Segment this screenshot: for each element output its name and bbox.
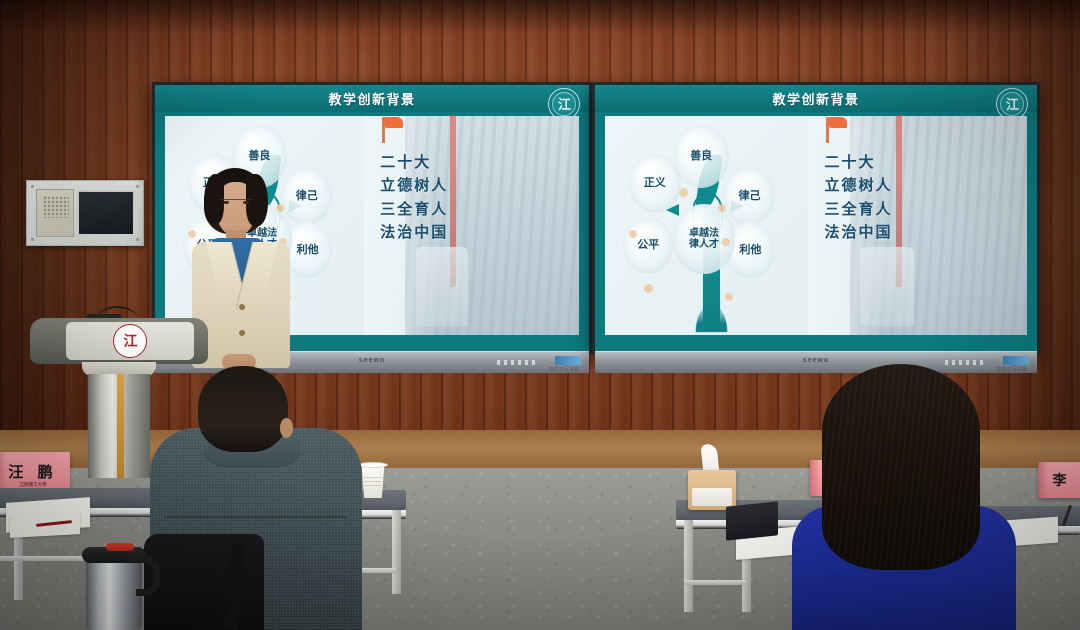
tree-node-top: 善良 [673, 125, 729, 188]
nameplate-text: 汪 鹏 [8, 461, 57, 482]
slide-text-line: 二十大 [824, 151, 892, 174]
logo-mark: 江 [124, 331, 137, 351]
right-interactive-panel[interactable]: 教学创新背景 江 善良 正义 律己 公平 利他 [592, 82, 1040, 354]
slide-text-line: 法治中国 [380, 221, 448, 244]
panel-screw-icon [136, 185, 139, 188]
talent-tree-diagram: 善良 正义 律己 公平 利他 卓越法 律人才 [618, 120, 804, 330]
decor-dot [644, 284, 653, 293]
coat-seam [164, 516, 348, 518]
decor-dot [722, 238, 730, 246]
lectern-column [88, 374, 150, 478]
tree-center-line-1: 卓越法 [689, 228, 719, 239]
decor-dot [725, 293, 733, 301]
slide-title-bar: 教学创新背景 [155, 85, 589, 112]
slide-text-block: 二十大 立德树人 三全育人 法治中国 [380, 151, 448, 244]
thermos-flask [86, 556, 142, 630]
slide-text-line: 法治中国 [824, 221, 892, 244]
panel-screw-icon [31, 238, 34, 241]
decor-dot [679, 188, 688, 197]
jacket-button [239, 304, 245, 310]
attendee-hair [822, 364, 980, 570]
attendee-right [792, 364, 1024, 630]
desk-leg [392, 510, 401, 594]
tree-node-upper-right: 律己 [723, 167, 775, 226]
panel-bezel-label: 智能交互平板 [549, 366, 579, 373]
slide-title: 教学创新背景 [772, 89, 859, 108]
decor-dot [629, 230, 637, 238]
panel-badge-icon [555, 356, 581, 365]
slide-text-line: 三全育人 [380, 198, 448, 221]
glasses-icon [219, 199, 253, 207]
flag-icon [826, 117, 829, 143]
speaker-grille-icon [36, 189, 74, 237]
attendee-left [150, 366, 374, 630]
classroom-scene: 教学创新背景 江 善良 正义 律己 公平 利他 [0, 0, 1080, 630]
tablet-device[interactable] [726, 501, 778, 540]
slide-text-line: 二十大 [380, 151, 448, 174]
tissue-box [688, 470, 736, 510]
attendee-head [198, 366, 288, 452]
tree-node-upper-left: 正义 [629, 154, 681, 213]
tissue-box-face [692, 488, 732, 506]
flag-icon [382, 117, 385, 143]
slide-text-line: 立德树人 [824, 174, 892, 197]
panel-brand-label: seewo [803, 357, 829, 364]
slide-body: 善良 正义 律己 公平 利他 卓越法 律人才 [605, 116, 1027, 335]
slide-title-bar: 教学创新背景 [595, 85, 1037, 112]
wall-control-panel[interactable] [26, 180, 144, 246]
lectern-front-panel: 江 [66, 322, 194, 360]
panel-screw-icon [31, 185, 34, 188]
control-panel-display[interactable] [77, 190, 135, 236]
panel-brand-label: seewo [359, 357, 385, 364]
slide-text-line: 立德树人 [380, 174, 448, 197]
slide-title: 教学创新背景 [328, 89, 415, 108]
slide-text-block: 二十大 立德树人 三全育人 法治中国 [824, 151, 892, 244]
desk-leg [684, 520, 693, 612]
panel-screw-icon [136, 238, 139, 241]
decor-dot [718, 204, 726, 212]
jacket-button [239, 330, 245, 336]
slide-right: 教学创新背景 江 善良 正义 律己 公平 利他 [595, 85, 1037, 351]
panel-buttons[interactable] [497, 360, 535, 365]
attendee-ear [280, 418, 293, 438]
slide-text-line: 三全育人 [824, 198, 892, 221]
thermos-pour-button[interactable] [106, 543, 134, 551]
university-logo-icon: 江 [113, 324, 147, 358]
tree-center-line-2: 律人才 [689, 239, 719, 250]
tree-node-lower-left: 公平 [623, 217, 673, 274]
nameplate-text: 李 [1053, 470, 1070, 490]
desk-rail [684, 580, 746, 585]
nameplate-1: 汪 鹏 江西理工大学 [0, 452, 70, 490]
nameplate-4: 李 [1038, 462, 1080, 498]
